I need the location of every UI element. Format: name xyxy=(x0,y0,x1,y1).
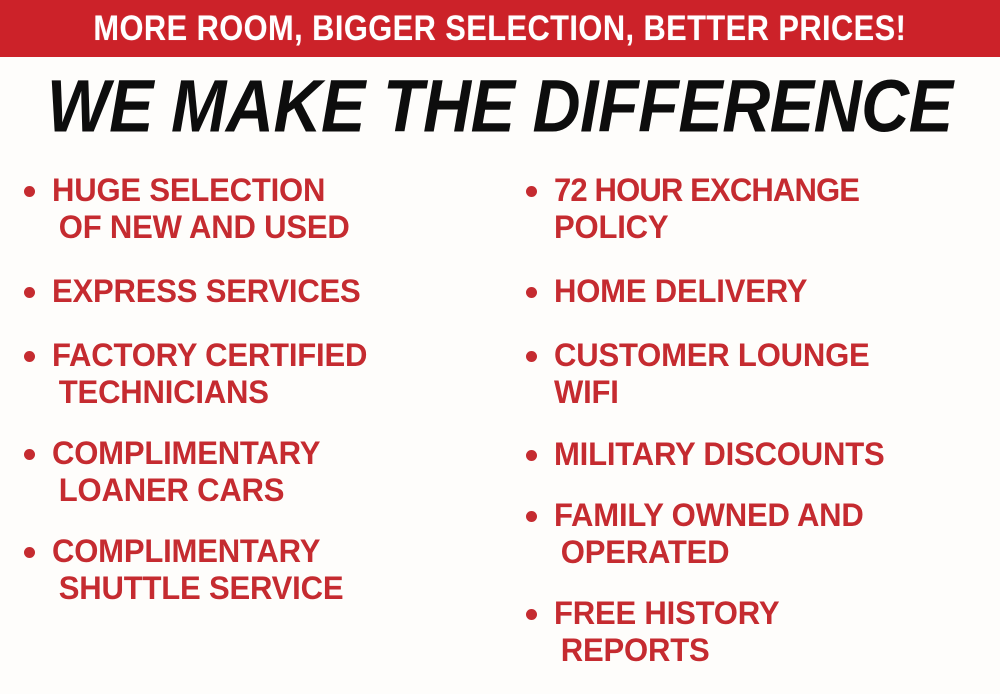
top-red-banner: MORE ROOM, BIGGER SELECTION, BETTER PRIC… xyxy=(0,0,1000,57)
list-item-line: COMPLIMENTARY xyxy=(52,533,487,570)
list-item: MILITARY DISCOUNTS xyxy=(520,436,1000,473)
list-item-line: EXPRESS SERVICES xyxy=(52,273,487,310)
list-item: EXPRESS SERVICES xyxy=(18,273,500,310)
list-item-line: 72 HOUR EXCHANGE xyxy=(554,172,987,209)
list-item-line: HOME DELIVERY xyxy=(554,273,987,310)
list-item: CUSTOMER LOUNGE WIFI xyxy=(520,337,1000,411)
list-item-line: POLICY xyxy=(554,209,987,246)
list-item-line: FACTORY CERTIFIED xyxy=(52,337,487,374)
list-item-line: HUGE SELECTION xyxy=(52,172,487,209)
list-item: COMPLIMENTARY SHUTTLE SERVICE xyxy=(18,533,500,607)
list-item-line: OPERATED xyxy=(554,534,987,571)
page-title: WE MAKE THE DIFFERENCE xyxy=(47,69,953,143)
list-item-line: SHUTTLE SERVICE xyxy=(52,570,487,607)
features-column-left: HUGE SELECTION OF NEW AND USED EXPRESS S… xyxy=(18,158,500,607)
list-item: FACTORY CERTIFIED TECHNICIANS xyxy=(18,337,500,411)
list-item-line: WIFI xyxy=(554,374,987,411)
list-item: FREE HISTORY REPORTS xyxy=(520,595,1000,669)
list-item: 72 HOUR EXCHANGE POLICY xyxy=(520,172,1000,246)
list-item-line: OF NEW AND USED xyxy=(52,209,487,246)
banner-headline-text: MORE ROOM, BIGGER SELECTION, BETTER PRIC… xyxy=(94,11,907,46)
list-item-line: MILITARY DISCOUNTS xyxy=(554,436,987,473)
list-item: COMPLIMENTARY LOANER CARS xyxy=(18,435,500,509)
list-item-line: COMPLIMENTARY xyxy=(52,435,487,472)
headline-container: WE MAKE THE DIFFERENCE xyxy=(0,62,1000,150)
list-item-line: TECHNICIANS xyxy=(52,374,487,411)
promo-banner-graphic: MORE ROOM, BIGGER SELECTION, BETTER PRIC… xyxy=(0,0,1000,694)
features-columns: HUGE SELECTION OF NEW AND USED EXPRESS S… xyxy=(0,158,1000,694)
features-column-right: 72 HOUR EXCHANGE POLICY HOME DELIVERY CU… xyxy=(520,158,1000,669)
list-item-line: FAMILY OWNED AND xyxy=(554,497,987,534)
list-item: FAMILY OWNED AND OPERATED xyxy=(520,497,1000,571)
list-item: HUGE SELECTION OF NEW AND USED xyxy=(18,172,500,246)
list-item-line: REPORTS xyxy=(554,632,987,669)
list-item: HOME DELIVERY xyxy=(520,273,1000,310)
list-item-line: CUSTOMER LOUNGE xyxy=(554,337,987,374)
list-item-line: LOANER CARS xyxy=(52,472,487,509)
list-item-line: FREE HISTORY xyxy=(554,595,987,632)
